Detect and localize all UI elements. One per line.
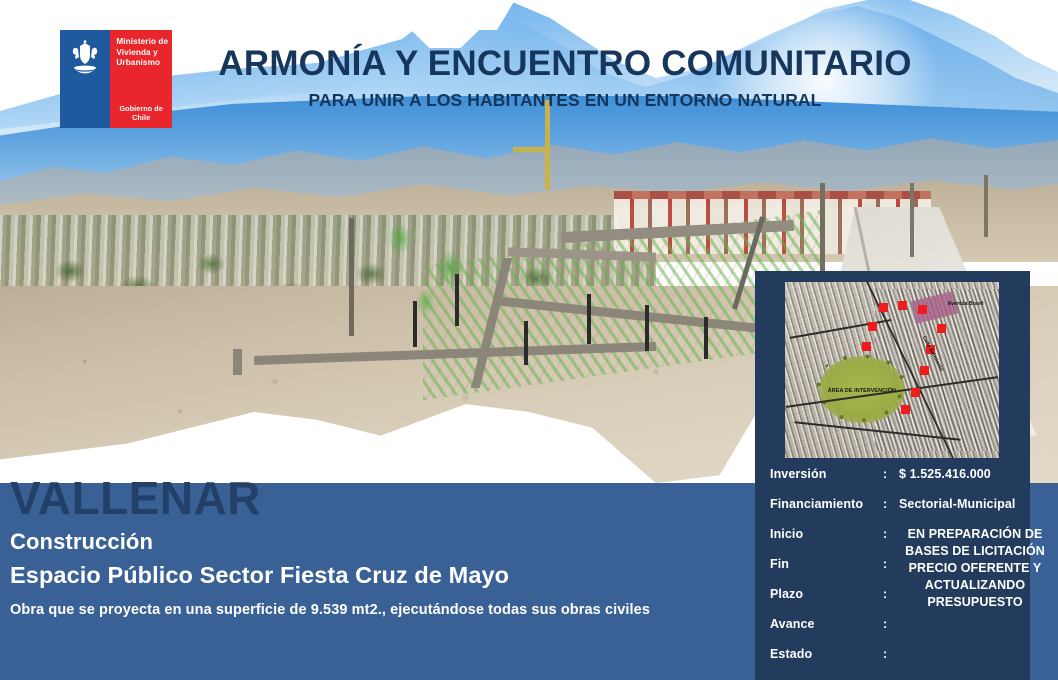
render-post-1 — [413, 301, 417, 347]
info-label-inicio: Inicio — [770, 527, 883, 541]
minvu-government-logo: Ministerio de Vivienda y Urbanismo Gobie… — [60, 30, 172, 128]
render-post-2 — [455, 274, 459, 326]
city-name: VALLENAR — [10, 475, 261, 521]
info-row-estado: Estado : — [770, 647, 1030, 677]
map-marker-10 — [901, 405, 910, 414]
logo-government-text: Gobierno de Chile — [110, 104, 172, 122]
poster-title: ARMONÍA Y ENCUENTRO COMUNITARIO — [150, 46, 980, 81]
chile-coat-of-arms-icon — [70, 40, 100, 74]
logo-ministry-line1: Ministerio de — [116, 37, 169, 48]
render-path-stub — [233, 349, 242, 375]
info-label-financiamiento: Financiamiento — [770, 497, 883, 511]
info-label-inversion: Inversión — [770, 467, 883, 481]
info-row-financiamiento: Financiamiento : Sectorial-Municipal — [770, 497, 1030, 527]
logo-ministry-text: Ministerio de Vivienda y Urbanismo — [116, 37, 169, 69]
map-corner-label: Avenida Brasil — [948, 301, 984, 307]
info-colon-inicio: : — [883, 527, 899, 541]
photo-utility-pole-a — [820, 183, 825, 283]
logo-blue-panel — [60, 30, 110, 128]
info-label-avance: Avance — [770, 617, 883, 631]
render-post-4 — [587, 294, 591, 344]
map-marker-8 — [920, 366, 929, 375]
render-post-3 — [524, 321, 528, 365]
logo-ministry-line2: Vivienda y — [116, 48, 169, 59]
info-label-plazo: Plazo — [770, 587, 883, 601]
info-label-fin: Fin — [770, 557, 883, 571]
project-description: Obra que se proyecta en una superficie d… — [10, 600, 745, 621]
map-area-label: ÁREA DE INTERVENCIÓN — [828, 388, 896, 394]
project-name: Espacio Público Sector Fiesta Cruz de Ma… — [10, 562, 509, 589]
info-value-financiamiento: Sectorial-Municipal — [899, 497, 1030, 511]
logo-ministry-line3: Urbanismo — [116, 58, 169, 69]
render-post-6 — [704, 317, 708, 359]
poster-subtitle: PARA UNIR A LOS HABITANTES EN UN ENTORNO… — [150, 92, 980, 110]
map-marker-5 — [862, 342, 871, 351]
project-type: Construcción — [10, 529, 153, 555]
photo-utility-pole-b — [910, 183, 914, 257]
location-map: ÁREA DE INTERVENCIÓN Avenida Brasil Call… — [785, 282, 999, 458]
info-label-estado: Estado — [770, 647, 883, 661]
project-info-panel: ÁREA DE INTERVENCIÓN Avenida Brasil Call… — [755, 271, 1030, 680]
info-colon-inversion: : — [883, 467, 899, 481]
map-marker-2 — [898, 301, 907, 310]
info-colon-estado: : — [883, 647, 899, 661]
info-colon-plazo: : — [883, 587, 899, 601]
photo-utility-pole-c — [984, 175, 988, 237]
photo-cross-vertical — [545, 100, 550, 190]
map-marker-1 — [879, 303, 888, 312]
info-colon-avance: : — [883, 617, 899, 631]
project-summary-band: VALLENAR Construcción Espacio Público Se… — [0, 483, 758, 680]
info-row-avance: Avance : — [770, 617, 1030, 647]
map-marker-6 — [937, 324, 946, 333]
photo-cross-horizontal — [513, 147, 545, 152]
map-marker-3 — [918, 305, 927, 314]
photo-utility-pole-left — [349, 218, 354, 336]
info-value-inversion: $ 1.525.416.000 — [899, 467, 1030, 481]
logo-red-panel: Ministerio de Vivienda y Urbanismo Gobie… — [110, 30, 172, 128]
project-status-note: EN PREPARACIÓN DE BASES DE LICITACIÓN PR… — [905, 526, 1045, 610]
project-poster: Ministerio de Vivienda y Urbanismo Gobie… — [0, 0, 1058, 680]
info-colon-financiamiento: : — [883, 497, 899, 511]
map-marker-9 — [911, 388, 920, 397]
render-post-5 — [645, 305, 649, 351]
map-marker-4 — [868, 322, 877, 331]
info-colon-fin: : — [883, 557, 899, 571]
info-row-inversion: Inversión : $ 1.525.416.000 — [770, 467, 1030, 497]
